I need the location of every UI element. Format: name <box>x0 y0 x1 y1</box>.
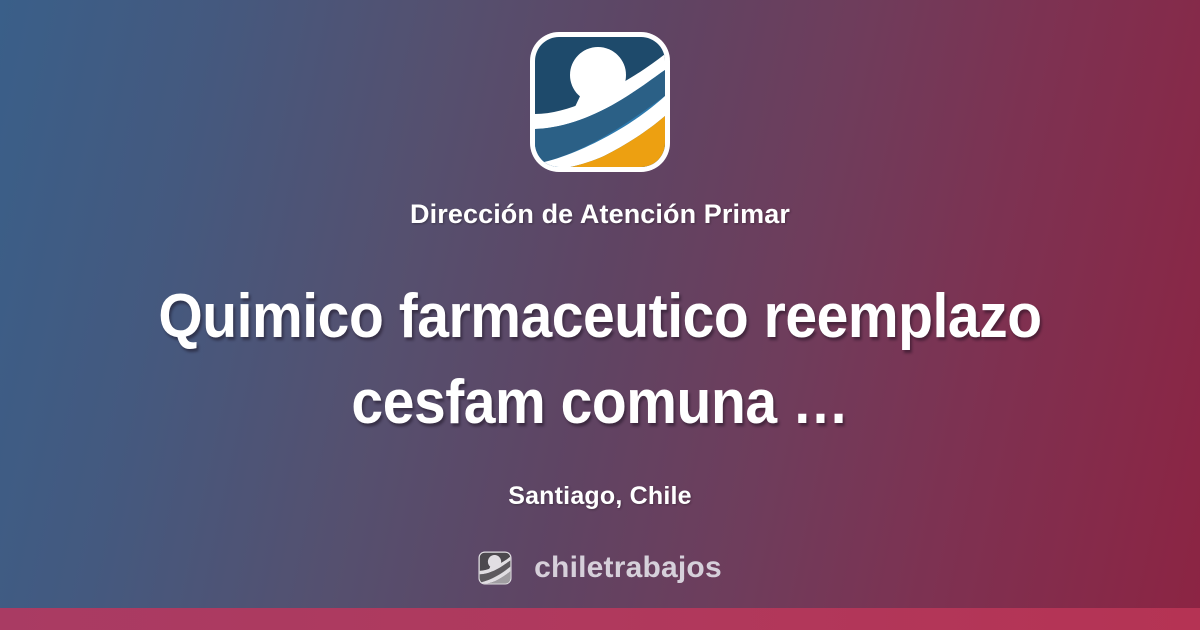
bottom-accent-bar <box>0 608 1200 630</box>
job-title: Quimico farmaceutico reemplazo cesfam co… <box>112 274 1087 446</box>
logo-icon <box>528 30 672 174</box>
employer-logo <box>528 30 672 174</box>
job-title-line-1: Quimico farmaceutico reemplazo <box>112 274 1087 360</box>
site-branding: chiletrabajos <box>478 551 722 585</box>
job-location: Santiago, Chile <box>508 482 692 511</box>
employer-name: Dirección de Atención Primar <box>410 200 790 230</box>
site-name: chiletrabajos <box>534 551 722 585</box>
card-content: Dirección de Atención Primar Quimico far… <box>0 0 1200 608</box>
chiletrabajos-logo-icon <box>478 551 512 585</box>
job-title-line-2: cesfam comuna … <box>112 360 1087 446</box>
job-share-card: Dirección de Atención Primar Quimico far… <box>0 0 1200 630</box>
